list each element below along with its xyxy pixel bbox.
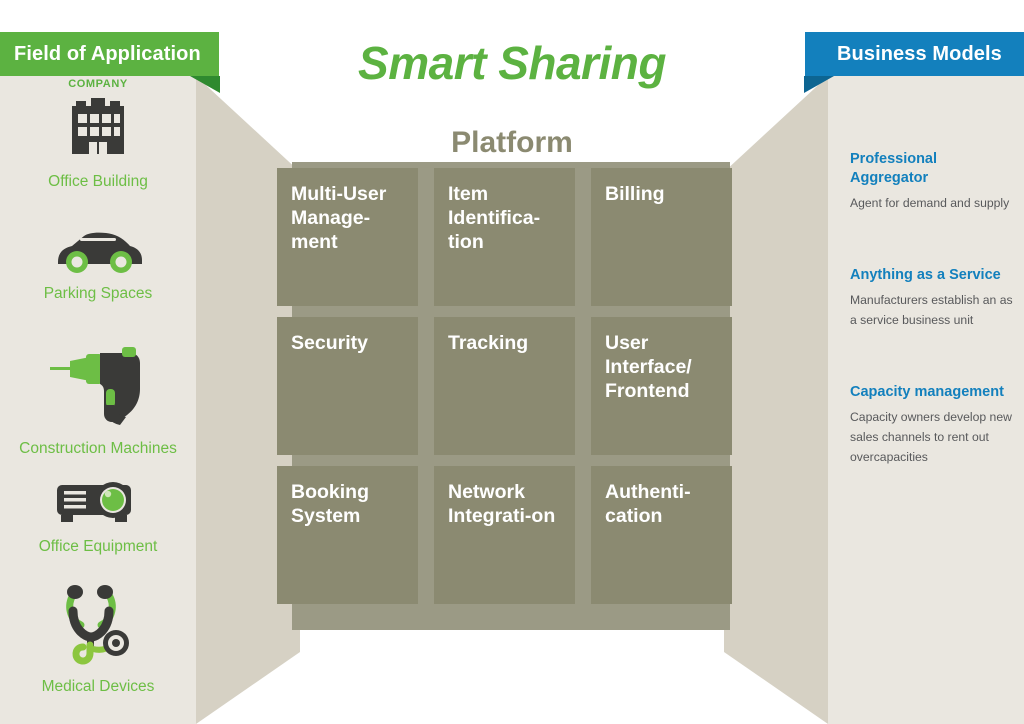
projector-icon — [51, 479, 145, 532]
platform-tile-user-interface-frontend[interactable]: User Interface/ Frontend — [591, 317, 732, 455]
list-item-label: Parking Spaces — [44, 285, 153, 302]
platform-tile-billing[interactable]: Billing — [591, 168, 732, 306]
platform-capability-grid: Multi-User Manage-ment Item Identifica-t… — [277, 168, 745, 626]
list-item-label: Construction Machines — [19, 440, 177, 457]
platform-tile-tracking[interactable]: Tracking — [434, 317, 575, 455]
list-item-label: Office Equipment — [39, 538, 158, 555]
list-item-label: Medical Devices — [42, 678, 155, 695]
platform-tile-item-identification[interactable]: Item Identifica-tion — [434, 168, 575, 306]
stethoscope-icon — [55, 581, 141, 672]
list-item-label: Office Building — [48, 173, 148, 190]
list-item-parking-spaces[interactable]: Parking Spaces — [0, 226, 196, 302]
power-drill-icon — [46, 343, 150, 434]
platform-tile-booking-system[interactable]: Booking System — [277, 466, 418, 604]
business-model-title: Anything as a Service — [850, 266, 1014, 285]
business-model-description: Manufacturers establish an as a service … — [850, 291, 1014, 331]
business-model-title: Capacity management — [850, 383, 1014, 402]
list-item-construction-machines[interactable]: Construction Machines — [0, 343, 196, 457]
list-item-medical-devices[interactable]: Medical Devices — [0, 581, 196, 695]
list-item-capacity-management[interactable]: Capacity management Capacity owners deve… — [850, 383, 1014, 468]
business-model-description: Capacity owners develop new sales channe… — [850, 408, 1014, 467]
platform-tile-authentication[interactable]: Authenti-cation — [591, 466, 732, 604]
platform-tile-multi-user-management[interactable]: Multi-User Manage-ment — [277, 168, 418, 306]
infographic-canvas: Field of Application Business Models COM… — [0, 0, 1024, 724]
business-model-description: Agent for demand and supply — [850, 194, 1014, 214]
list-item-office-equipment[interactable]: Office Equipment — [0, 479, 196, 555]
business-models-list: Professional Aggregator Agent for demand… — [832, 150, 1024, 502]
car-icon — [50, 226, 146, 279]
platform-section-label: Platform — [0, 126, 1024, 160]
page-title: Smart Sharing — [0, 36, 1024, 90]
platform-tile-security[interactable]: Security — [277, 317, 418, 455]
list-item-anything-as-a-service[interactable]: Anything as a Service Manufacturers esta… — [850, 266, 1014, 331]
platform-tile-network-integration[interactable]: Network Integrati-on — [434, 466, 575, 604]
field-of-application-list: COMPANY — [0, 76, 196, 696]
